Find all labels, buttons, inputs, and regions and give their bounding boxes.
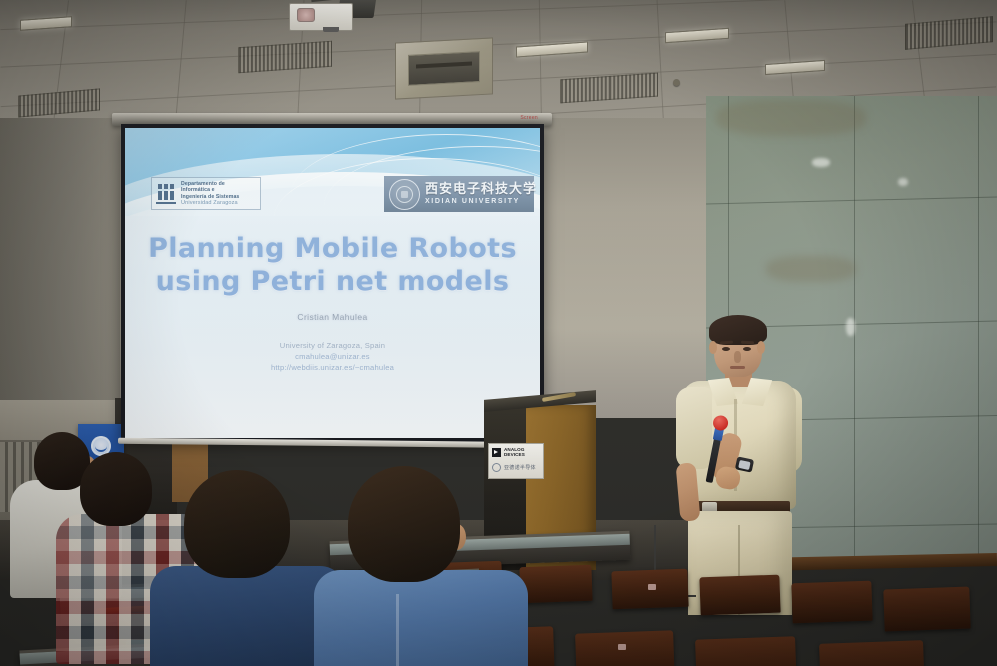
seat-number-tag (648, 584, 656, 590)
slide-affiliation: University of Zaragoza, Spain (125, 340, 540, 351)
analog-devices-logo-icon (492, 448, 501, 457)
slide-author: Cristian Mahulea (125, 312, 540, 322)
screen-case-label: Screen (520, 115, 538, 121)
zar-line-3: Ingeniería de Sistemas (181, 194, 239, 200)
smoke-detector (673, 79, 680, 86)
xidian-seal-icon (389, 179, 420, 210)
zaragoza-logo: Departamento de Informática e Ingeniería… (151, 177, 261, 210)
audience-head (348, 466, 460, 582)
audience-member (320, 466, 520, 666)
chair (699, 575, 780, 616)
xidian-english-name: XIDIAN UNIVERSITY (425, 198, 537, 205)
slide-title: Planning Mobile Robots using Petri net m… (125, 232, 540, 298)
ad-brand-line-2: DEVICES (504, 452, 525, 457)
ceiling-projector (289, 0, 375, 30)
audience-member (150, 470, 340, 666)
xidian-university-logo: 西安电子科技大学 XIDIAN UNIVERSITY (384, 176, 534, 212)
slide-title-line-2: using Petri net models (125, 265, 540, 298)
lecture-hall-scene: BECUMAN Screen Departamento (0, 0, 997, 666)
left-wall (0, 118, 120, 418)
chair (883, 587, 970, 632)
chair (819, 640, 925, 666)
zar-line-4: Universidad Zaragoza (181, 200, 239, 206)
slide-title-line-1: Planning Mobile Robots (125, 232, 540, 265)
slide-url: http://webdiis.unizar.es/~cmahulea (125, 362, 540, 373)
seat-number-tag (618, 644, 626, 650)
zaragoza-logo-text: Departamento de Informática e Ingeniería… (181, 181, 239, 207)
chair (791, 581, 872, 624)
chair (695, 636, 797, 666)
audience-shirt (314, 570, 528, 666)
projector-lens (297, 8, 315, 22)
audience-head (184, 470, 290, 578)
xidian-chinese-name: 西安电子科技大学 (425, 183, 537, 196)
audience-head (80, 452, 152, 526)
zaragoza-building-icon (155, 182, 177, 206)
slide-affiliation-block: University of Zaragoza, Spain cmahulea@u… (125, 340, 540, 373)
projection-screen: Departamento de Informática e Ingeniería… (121, 124, 544, 442)
ceiling-air-conditioner (395, 37, 493, 99)
presentation-slide: Departamento de Informática e Ingeniería… (125, 128, 540, 438)
presenter-hair (709, 315, 767, 345)
chair (519, 565, 592, 603)
slide-email: cmahulea@unizar.es (125, 351, 540, 362)
